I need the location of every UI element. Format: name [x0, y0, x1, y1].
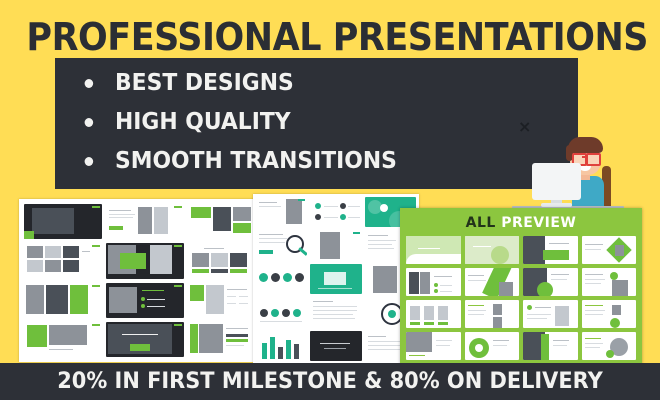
green-theme-slide-deck[interactable]: [19, 199, 271, 362]
slide-thumb[interactable]: [106, 204, 184, 239]
slide-thumb[interactable]: [310, 297, 361, 327]
slide-thumb[interactable]: [24, 322, 102, 357]
preview-thumbnail-grid[interactable]: [406, 236, 636, 360]
feature-panel: BEST DESIGNS HIGH QUALITY SMOOTH TRANSIT…: [55, 58, 578, 189]
all-preview-title: ALL PREVIEW: [406, 214, 636, 233]
all-preview-deck[interactable]: ALL PREVIEW: [400, 208, 642, 366]
slide-thumb[interactable]: [523, 300, 578, 328]
all-preview-title-primary: ALL: [466, 215, 496, 231]
slide-thumb[interactable]: [465, 236, 520, 264]
slide-thumb[interactable]: [465, 300, 520, 328]
slide-thumb[interactable]: [106, 283, 184, 318]
page-title: PROFESSIONAL PRESENTATIONS: [26, 14, 633, 60]
slide-thumb[interactable]: [523, 268, 578, 296]
feature-list: BEST DESIGNS HIGH QUALITY SMOOTH TRANSIT…: [77, 64, 407, 181]
slide-thumb[interactable]: [256, 297, 307, 327]
slide-thumb[interactable]: [24, 283, 102, 318]
slide-thumb[interactable]: [523, 236, 578, 264]
slide-thumb[interactable]: [24, 204, 102, 239]
slide-thumb[interactable]: [310, 197, 361, 227]
slide-thumb[interactable]: [523, 332, 578, 360]
slide-thumb[interactable]: [465, 332, 520, 360]
glasses-bridge-icon: [582, 156, 587, 158]
slide-preview-collage: ALL PREVIEW: [0, 194, 660, 366]
slide-thumb[interactable]: [406, 236, 461, 264]
bullet-dot-icon: [85, 157, 94, 166]
slide-thumb[interactable]: [106, 243, 184, 278]
slide-thumb[interactable]: [582, 332, 637, 360]
footer-text: 20% IN FIRST MILESTONE & 80% ON DELIVERY: [17, 363, 644, 400]
footer-banner: 20% IN FIRST MILESTONE & 80% ON DELIVERY: [0, 363, 660, 400]
slide-thumb[interactable]: [310, 230, 361, 260]
slide-thumb[interactable]: [256, 264, 307, 294]
slide-thumb[interactable]: [310, 264, 361, 294]
slide-thumb[interactable]: [582, 236, 637, 264]
slide-thumb[interactable]: [406, 268, 461, 296]
feature-label: SMOOTH TRANSITIONS: [115, 148, 397, 174]
slide-thumb[interactable]: [582, 268, 637, 296]
slide-thumb[interactable]: [256, 230, 307, 260]
glasses-right-lens-icon: [586, 153, 601, 166]
slide-thumb[interactable]: [310, 331, 361, 361]
slide-thumb[interactable]: [582, 300, 637, 328]
teal-theme-slide-deck[interactable]: [253, 194, 419, 364]
slide-thumb[interactable]: [24, 243, 102, 278]
slide-thumb[interactable]: [406, 332, 461, 360]
all-preview-title-secondary: PREVIEW: [501, 215, 576, 231]
list-item: BEST DESIGNS: [77, 64, 391, 103]
slide-thumb[interactable]: [465, 268, 520, 296]
slide-thumb[interactable]: [256, 197, 307, 227]
slide-thumb[interactable]: [256, 331, 307, 361]
person-hair: [568, 137, 603, 153]
bullet-dot-icon: [85, 79, 94, 88]
slide-thumb[interactable]: [106, 322, 184, 357]
bullet-dot-icon: [85, 118, 94, 127]
promo-graphic: PROFESSIONAL PRESENTATIONS BEST DESIGNS …: [0, 0, 660, 400]
list-item: SMOOTH TRANSITIONS: [77, 142, 391, 181]
slide-thumb[interactable]: [406, 300, 461, 328]
feature-label: HIGH QUALITY: [115, 109, 291, 135]
feature-label: BEST DESIGNS: [115, 70, 294, 96]
list-item: HIGH QUALITY: [77, 103, 391, 142]
